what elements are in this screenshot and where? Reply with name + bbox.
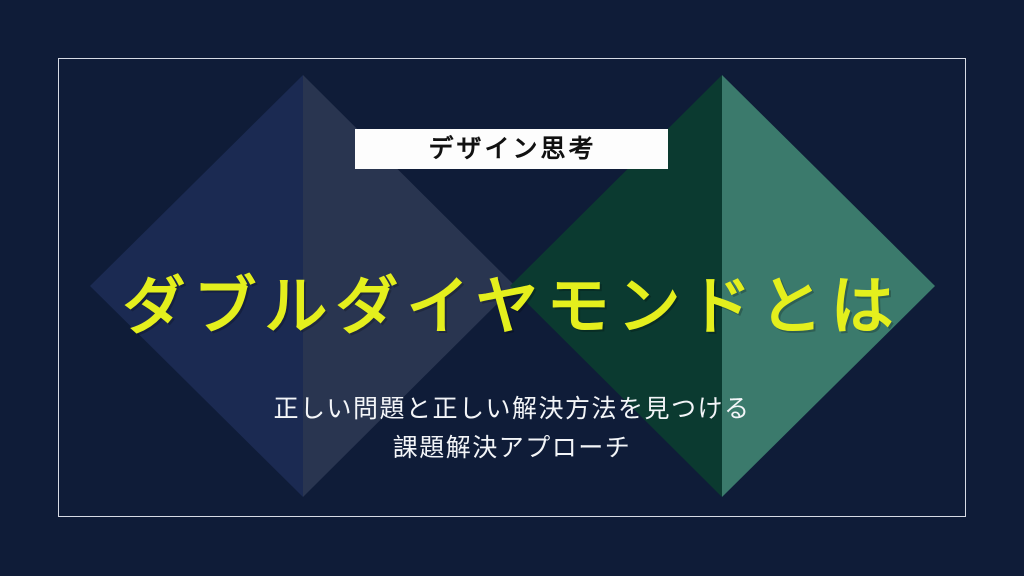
category-badge-label: デザイン思考	[428, 137, 596, 162]
page-title: ダブルダイヤモンドとは	[0, 274, 1024, 340]
category-badge: デザイン思考	[355, 129, 668, 169]
slide-canvas: デザイン思考 ダブルダイヤモンドとは 正しい問題と正しい解決方法を見つける 課題…	[0, 0, 1024, 576]
subtitle: 正しい問題と正しい解決方法を見つける 課題解決アプローチ	[0, 390, 1024, 468]
subtitle-line-1: 正しい問題と正しい解決方法を見つける	[0, 390, 1024, 429]
subtitle-line-2: 課題解決アプローチ	[0, 429, 1024, 468]
